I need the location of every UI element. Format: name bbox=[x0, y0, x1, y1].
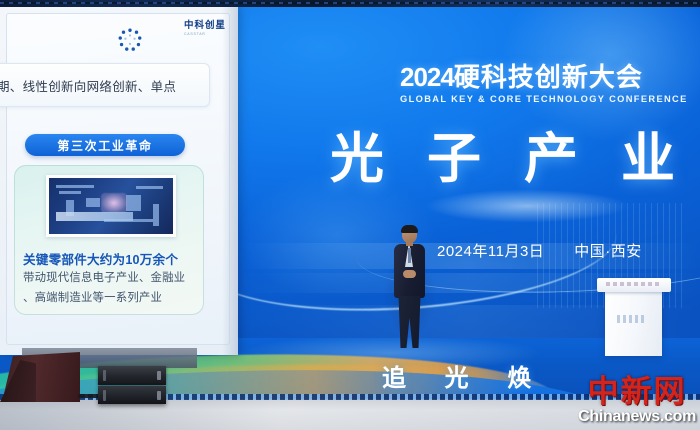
watermark: 中新网 Chinanews.com bbox=[578, 376, 696, 426]
circuit-board-photo bbox=[46, 175, 176, 237]
conference-lockup: 2024硬科技创新大会 GLOBAL KEY & CORE TECHNOLOGY… bbox=[400, 64, 690, 104]
slide-quote-text: 期、线性创新向网络创新、单点 bbox=[0, 76, 176, 95]
podium-top-text bbox=[606, 282, 662, 286]
ceiling-strip bbox=[0, 0, 700, 7]
line-array-speaker-top bbox=[98, 366, 166, 385]
speaker-person bbox=[388, 226, 432, 350]
slide-section-pill-label: 第三次工业革命 bbox=[57, 137, 152, 154]
conference-title-cn-text: 硬科技创新大会 bbox=[454, 62, 643, 92]
watermark-domain: Chinanews.com bbox=[578, 408, 696, 426]
stage-slogan: 追 光 焕 bbox=[382, 358, 547, 393]
podium-top bbox=[597, 278, 671, 292]
circuit-board-bar bbox=[56, 212, 133, 221]
slide-logo: 中科创星 CASSTAR bbox=[184, 21, 226, 36]
podium-logo-mark bbox=[617, 315, 647, 323]
circuit-board-image bbox=[49, 178, 173, 234]
slide-quote-box: 期、线性创新向网络创新、单点 bbox=[0, 63, 210, 107]
event-dateline: 2024年11月3日中国·西安 bbox=[437, 240, 642, 261]
conference-year: 2024 bbox=[400, 62, 454, 92]
slide-card-heading: 关键零部件大约为10万余个 bbox=[23, 249, 178, 268]
line-array-speaker-bottom bbox=[98, 386, 166, 404]
conference-title-en: GLOBAL KEY & CORE TECHNOLOGY CONFERENCE bbox=[400, 94, 690, 104]
podium-body bbox=[605, 291, 662, 356]
watermark-logo-cn: 中新网 bbox=[578, 376, 696, 407]
speaker-hair bbox=[401, 225, 418, 233]
event-location: 中国·西安 bbox=[574, 243, 642, 260]
conference-title-cn: 2024硬科技创新大会 bbox=[400, 64, 690, 91]
speaker-hands bbox=[403, 270, 416, 278]
slide-logo-words: 中科创星 CASSTAR bbox=[184, 21, 226, 36]
podium bbox=[597, 278, 671, 356]
presentation-slide: 中科创星 CASSTAR 期、线性创新向网络创新、单点 第三次工业革命 bbox=[0, 5, 238, 355]
circuit-board-glow bbox=[101, 193, 127, 213]
speaker-tie bbox=[408, 248, 411, 263]
stage-photo: 2024硬科技创新大会 GLOBAL KEY & CORE TECHNOLOGY… bbox=[0, 0, 700, 430]
slide-card-line-2: 、高端制造业等一系列产业 bbox=[23, 289, 162, 305]
dot-circle-icon bbox=[117, 27, 143, 53]
slide-logo-name-cn: 中科创星 bbox=[184, 21, 226, 31]
slide-card-line-1: 带动现代信息电子产业、金融业 bbox=[23, 269, 185, 285]
slide-edge-shading bbox=[222, 5, 238, 355]
slide-logo-name-en: CASSTAR bbox=[184, 33, 226, 37]
summit-title: 光 子 产 业 峰 bbox=[330, 132, 700, 186]
event-date: 2024年11月3日 bbox=[437, 243, 544, 260]
slide-section-pill: 第三次工业革命 bbox=[25, 134, 185, 156]
slide-content-card: 关键零部件大约为10万余个 带动现代信息电子产业、金融业 、高端制造业等一系列产… bbox=[14, 165, 204, 315]
